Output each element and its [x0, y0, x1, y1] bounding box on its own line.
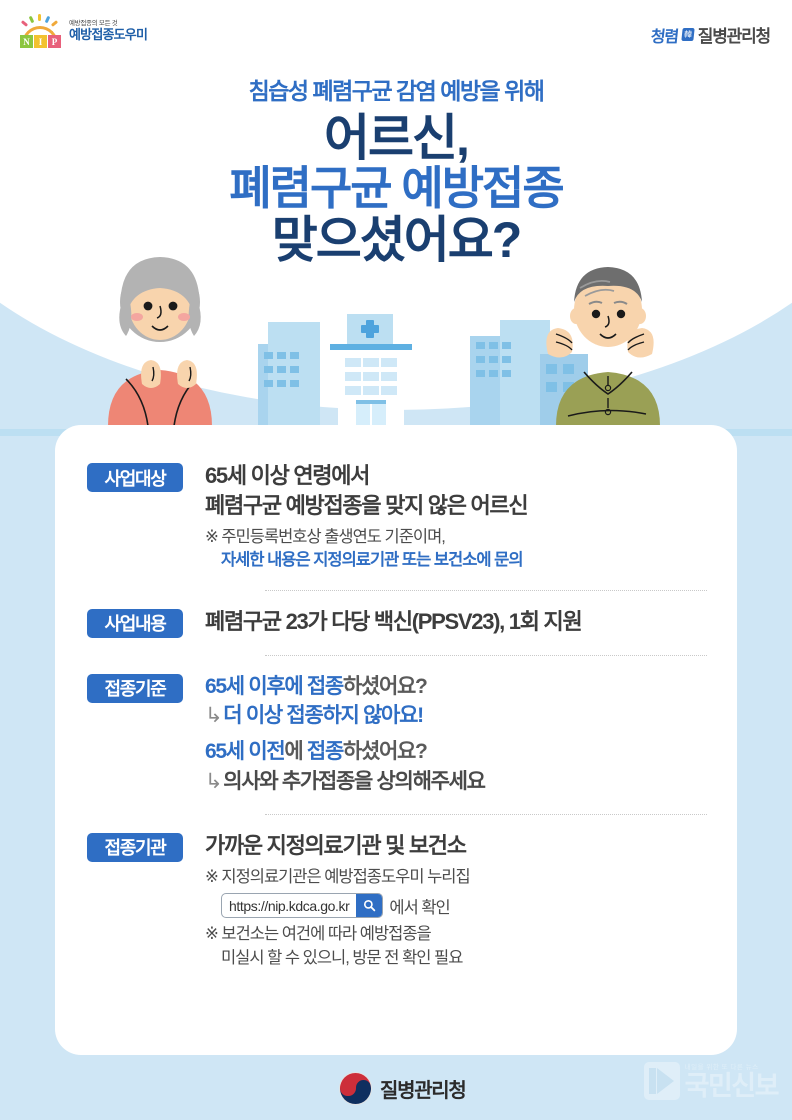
facility-note-2-line-2: 미실시 할 수 있으니, 방문 전 확인 필요 — [205, 947, 707, 970]
arrow-icon-2: ↳ — [205, 770, 221, 793]
criteria-q2-rest: 하셨어요? — [343, 740, 427, 763]
section-target-body: 65세 이상 연령에서 폐렴구균 예방접종을 맞지 않은 어르신 ※ 주민등록번… — [183, 461, 707, 573]
criteria-q2-highlight-2: 접종 — [307, 740, 343, 763]
criteria-q2-mid: 에 — [284, 740, 307, 763]
target-note: ※ 주민등록번호상 출생연도 기준이며, — [205, 526, 707, 549]
target-title-line-1: 65세 이상 연령에서 — [205, 461, 707, 491]
criteria-question-1: 65세 이후에 접종하셨어요? — [205, 672, 707, 702]
url-box[interactable]: https://nip.kdca.go.kr — [221, 893, 383, 918]
section-criteria-body: 65세 이후에 접종하셨어요? ↳더 이상 접종하지 않아요! 65세 이전에 … — [183, 672, 707, 797]
target-note-blue: 자세한 내용은 지정의료기관 또는 보건소에 문의 — [205, 549, 707, 572]
criteria-question-2: 65세 이전에 접종하셨어요? — [205, 737, 707, 767]
divider-3 — [265, 814, 707, 815]
integrity-word: 청렴 — [649, 23, 679, 47]
section-facility-body: 가까운 지정의료기관 및 보건소 ※ 지정의료기관은 예방접종도우미 누리집 h… — [183, 831, 707, 970]
content-title: 폐렴구균 23가 다당 백신(PPSV23), 1회 지원 — [205, 607, 707, 637]
facility-title: 가까운 지정의료기관 및 보건소 — [205, 831, 707, 861]
headline-block: 침습성 폐렴구균 감염 예방을 위해 어르신, 폐렴구균 예방접종 맞으셨어요? — [0, 72, 792, 267]
watermark-k-bottom — [657, 1081, 674, 1094]
section-criteria: 접종기준 65세 이후에 접종하셨어요? ↳더 이상 접종하지 않아요! 65세… — [55, 672, 737, 797]
footer-kdca-logo: 질병관리청 — [340, 1073, 466, 1104]
poster-root: N I P 예방접종의 모든 것 예방접종도우미 청렴 韓 질병관리청 침습성 … — [0, 0, 792, 1120]
facility-note-1: ※ 지정의료기관은 예방접종도우미 누리집 — [205, 866, 707, 889]
nip-letter-i: I — [34, 35, 47, 48]
criteria-a2-text: 의사와 추가접종을 상의해주세요 — [223, 770, 484, 793]
url-text: https://nip.kdca.go.kr — [222, 894, 356, 917]
integrity-badge: 韓 — [681, 28, 694, 41]
criteria-q1-highlight: 65세 이후에 접종 — [205, 675, 343, 698]
watermark-name: 국민신보 — [685, 1073, 778, 1100]
section-facility: 접종기관 가까운 지정의료기관 및 보건소 ※ 지정의료기관은 예방접종도우미 … — [55, 831, 737, 970]
headline-line-1: 어르신, — [0, 112, 792, 164]
facility-url-row: https://nip.kdca.go.kr 에서 확인 — [205, 893, 707, 918]
magnifier-glyph — [363, 899, 376, 912]
elderly-woman-illustration — [108, 257, 212, 426]
taegeuk-icon — [340, 1073, 371, 1104]
headline-line-2: 폐렴구균 예방접종 — [0, 164, 792, 214]
hospital-building-illustration — [330, 314, 412, 431]
criteria-answer-1: ↳더 이상 접종하지 않아요! — [205, 701, 707, 731]
section-content: 사업내용 폐렴구균 23가 다당 백신(PPSV23), 1회 지원 — [55, 607, 737, 638]
headline-line-3: 맞으셨어요? — [0, 214, 792, 267]
footer-agency-name: 질병관리청 — [380, 1074, 466, 1103]
divider-2 — [265, 655, 707, 656]
nip-letter-p: P — [48, 35, 61, 48]
nip-title: 예방접종도우미 — [69, 28, 147, 42]
news-watermark: 내일을 위한 또 다른 뉴스 국민신보 — [644, 1062, 778, 1100]
arrow-icon-1: ↳ — [205, 704, 221, 727]
headline-kicker: 침습성 폐렴구균 감염 예방을 위해 — [0, 72, 792, 106]
search-icon[interactable] — [356, 894, 382, 917]
nip-sunburst-icon: N I P — [18, 14, 62, 48]
elderly-man-illustration — [546, 267, 660, 426]
section-target: 사업대상 65세 이상 연령에서 폐렴구균 예방접종을 맞지 않은 어르신 ※ … — [55, 461, 737, 573]
criteria-q2-highlight: 65세 이전 — [205, 740, 284, 763]
watermark-k-top — [657, 1068, 674, 1081]
nip-tagline: 예방접종의 모든 것 — [69, 20, 147, 27]
content-card: 사업대상 65세 이상 연령에서 폐렴구균 예방접종을 맞지 않은 어르신 ※ … — [55, 425, 737, 1055]
kdca-agency-name: 질병관리청 — [698, 22, 770, 47]
nip-letter-n: N — [20, 35, 33, 48]
kdca-header-logo[interactable]: 청렴 韓 질병관리청 — [651, 22, 770, 47]
divider-1 — [265, 590, 707, 591]
footer: 질병관리청 내일을 위한 또 다른 뉴스 국민신보 — [0, 1056, 792, 1120]
badge-content: 사업내용 — [87, 609, 183, 638]
nip-letter-blocks: N I P — [20, 35, 61, 48]
badge-criteria: 접종기준 — [87, 674, 183, 703]
criteria-answer-2: ↳의사와 추가접종을 상의해주세요 — [205, 767, 707, 797]
taegeuk-swirl-blue — [356, 1080, 372, 1096]
watermark-text: 내일을 위한 또 다른 뉴스 국민신보 — [685, 1065, 778, 1101]
watermark-logo-icon — [644, 1062, 680, 1100]
city-buildings-illustration — [258, 320, 588, 429]
criteria-q1-rest: 하셨어요? — [343, 675, 427, 698]
url-suffix: 에서 확인 — [389, 894, 449, 918]
target-title-line-2: 폐렴구균 예방접종을 맞지 않은 어르신 — [205, 491, 707, 521]
taegeuk-swirl-red — [340, 1080, 356, 1096]
facility-note-2-line-1: ※ 보건소는 여건에 따라 예방접종을 — [205, 923, 707, 946]
nip-logo-text: 예방접종의 모든 것 예방접종도우미 — [69, 20, 147, 42]
badge-facility: 접종기관 — [87, 833, 183, 862]
criteria-a1-text: 더 이상 접종하지 않아요! — [223, 704, 423, 727]
nip-logo[interactable]: N I P 예방접종의 모든 것 예방접종도우미 — [18, 14, 147, 48]
badge-target: 사업대상 — [87, 463, 183, 492]
watermark-bar — [649, 1068, 656, 1094]
section-content-body: 폐렴구균 23가 다당 백신(PPSV23), 1회 지원 — [183, 607, 707, 638]
